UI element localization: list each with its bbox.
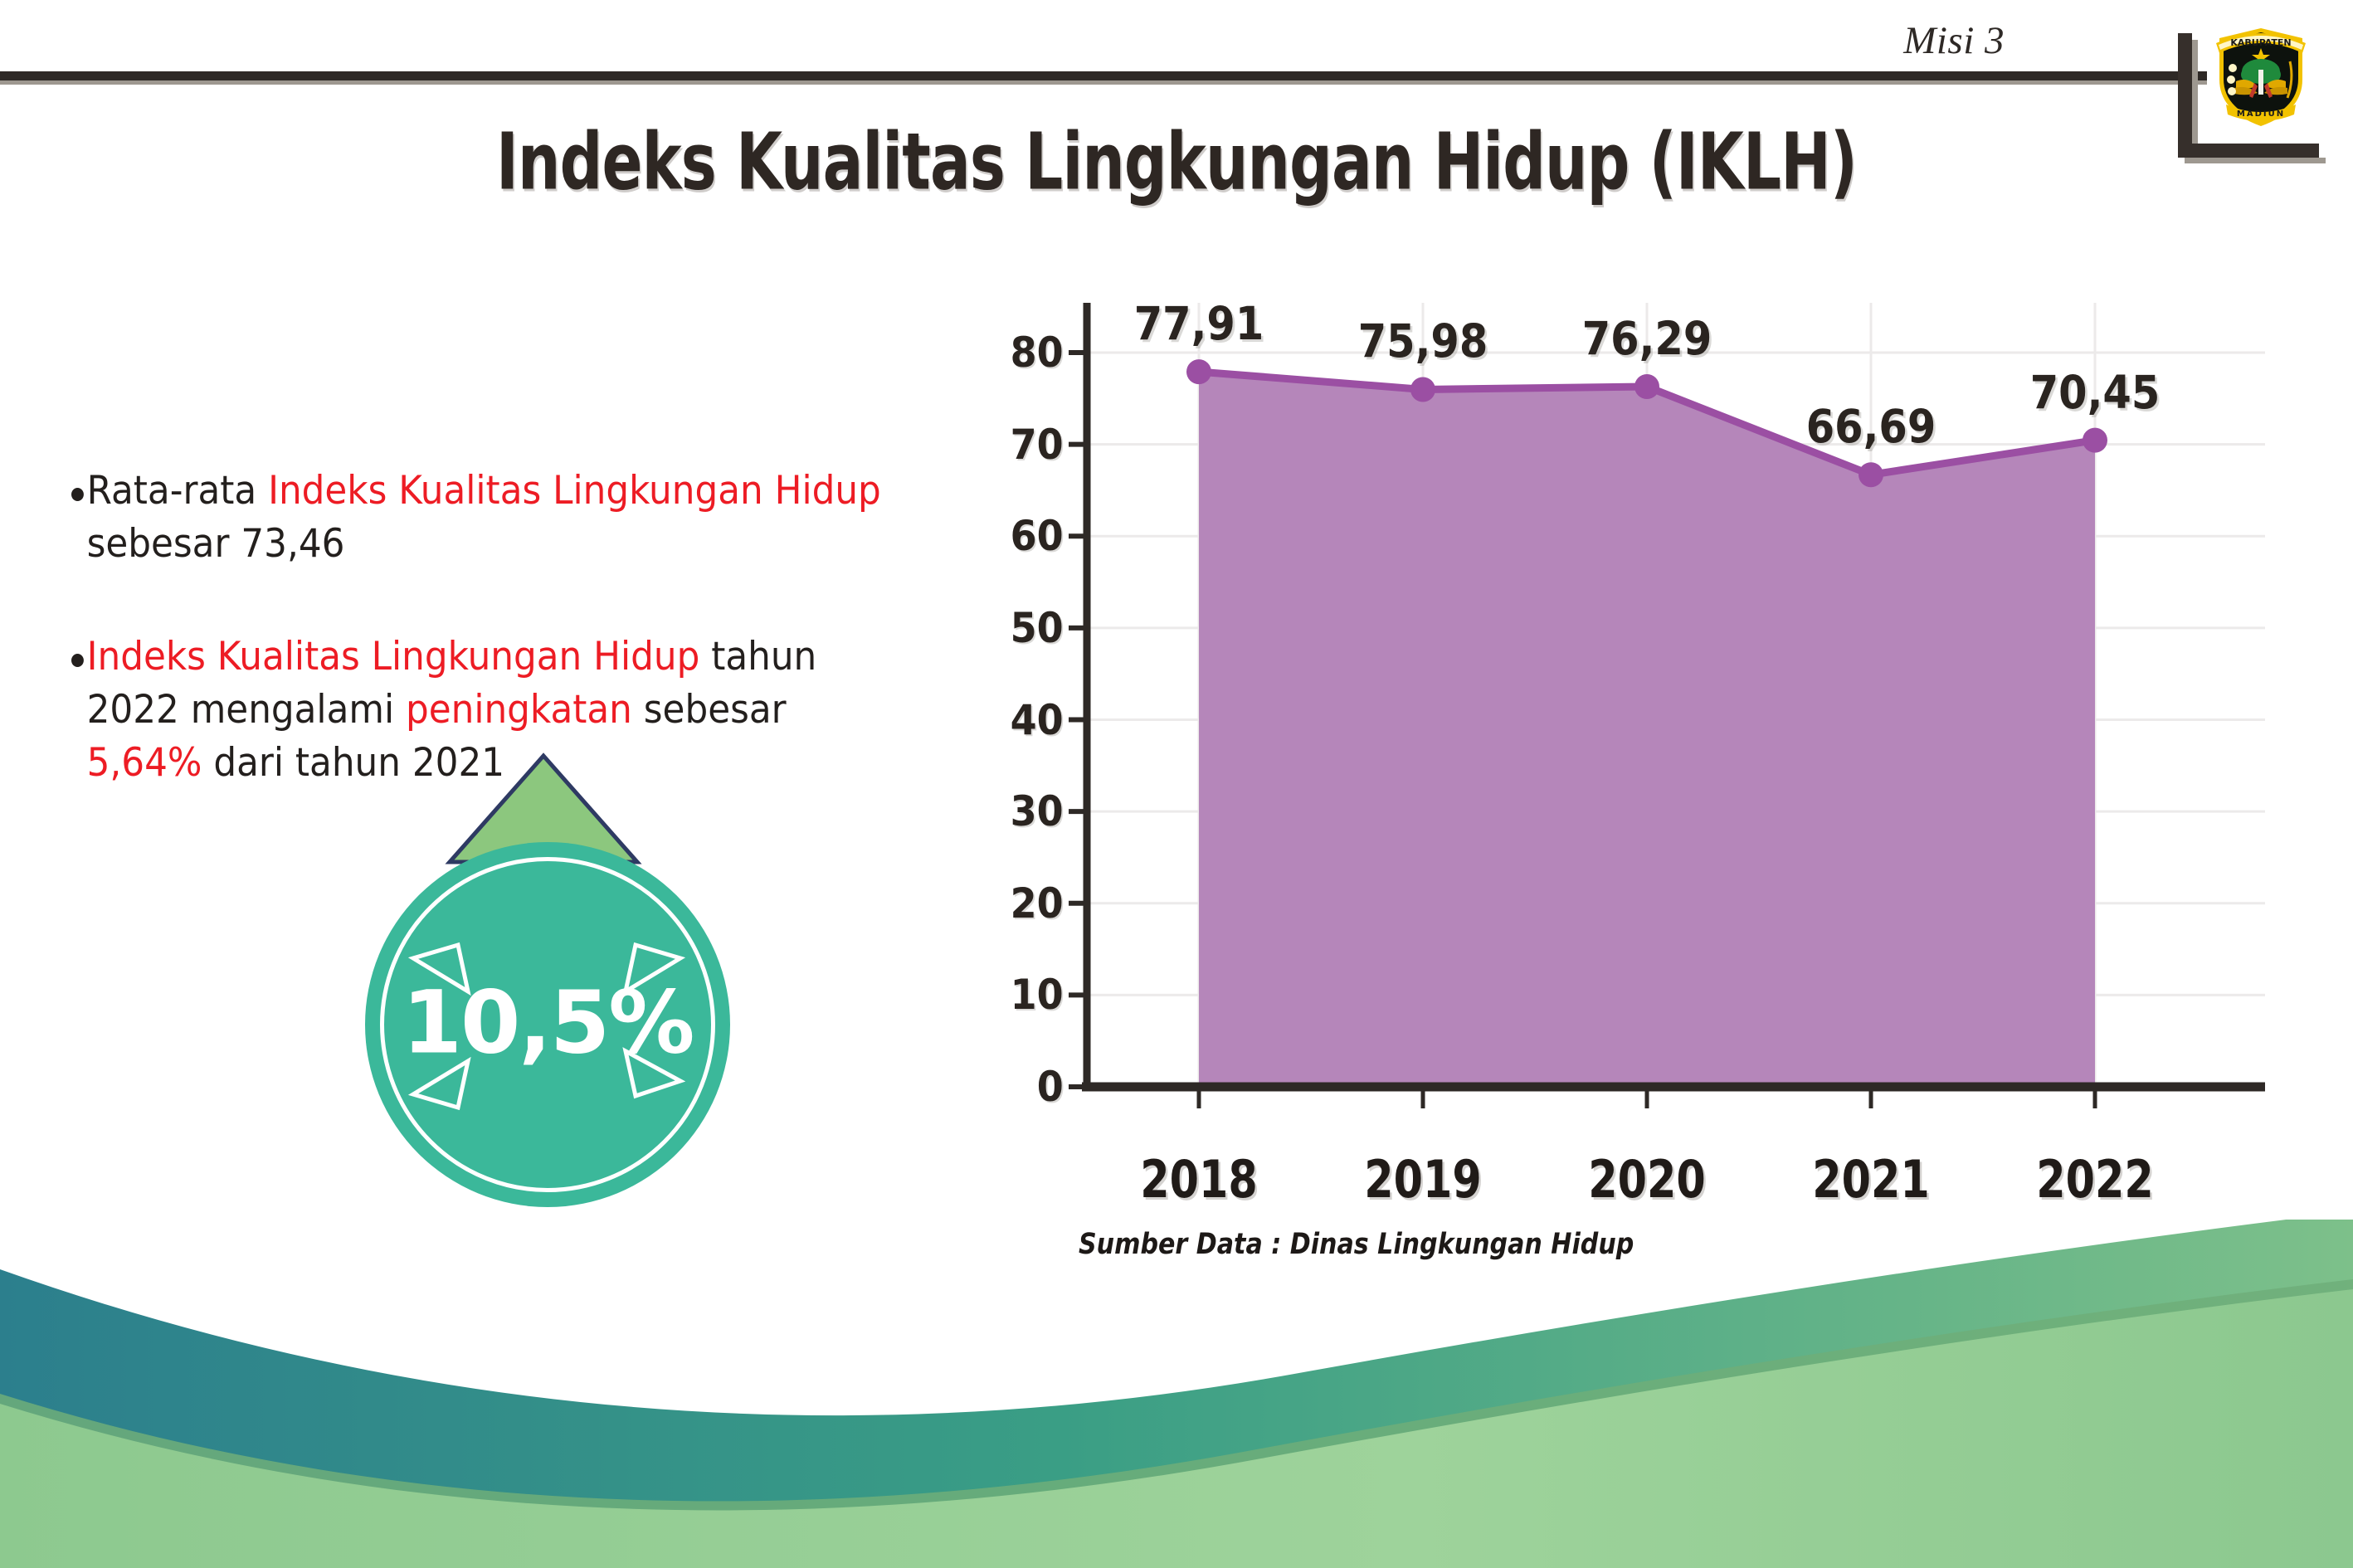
svg-text:MADIUN: MADIUN	[2237, 110, 2285, 119]
plain-phrase: sebesar	[632, 687, 787, 733]
plain-phrase: sebesar 73,46	[87, 521, 345, 567]
chart-canvas	[987, 295, 2282, 1174]
header-divider-line	[0, 71, 2207, 80]
footer-wave-graphic	[0, 1220, 2353, 1568]
chart-x-tick-label: 2022	[2036, 1149, 2154, 1210]
chart-data-label: 70,45	[2030, 366, 2161, 419]
bullet-dot-icon	[71, 654, 84, 667]
bullet-text-0: Rata-rata Indeks Kualitas Lingkungan Hid…	[87, 465, 898, 571]
list-item: Rata-rata Indeks Kualitas Lingkungan Hid…	[71, 465, 897, 571]
chart-marker	[1634, 374, 1659, 399]
key-findings-list: Rata-rata Indeks Kualitas Lingkungan Hid…	[71, 465, 959, 790]
chart-y-tick-label: 40	[1011, 696, 1064, 744]
badge-percent-label: 10,5%	[365, 972, 730, 1074]
chart-y-tick-label: 70	[1011, 421, 1064, 469]
plain-phrase: Rata-rata	[87, 468, 268, 514]
chart-data-label: 75,98	[1358, 314, 1488, 368]
chart-y-tick-label: 80	[1011, 329, 1064, 377]
chart-y-tick-label: 50	[1011, 604, 1064, 652]
svg-text:KABUPATEN: KABUPATEN	[2230, 37, 2291, 48]
chart-area-fill	[1199, 372, 2095, 1087]
chart-data-label: 66,69	[1806, 400, 1936, 453]
increase-badge: 10,5%	[332, 751, 763, 1215]
logo-bracket-vertical-shadow	[2192, 40, 2198, 158]
chart-y-tick-label: 30	[1011, 787, 1064, 835]
chart-data-label: 76,29	[1582, 312, 1712, 365]
page-footer: Media Infografis Data Statistik Sektoral…	[0, 1220, 2353, 1568]
header-divider-shadow	[0, 80, 2207, 85]
chart-x-tick-label: 2018	[1140, 1149, 1258, 1210]
chart-y-tick-label: 10	[1011, 971, 1064, 1019]
chart-y-tick-label: 20	[1011, 879, 1064, 928]
bullet-dot-icon	[71, 488, 84, 501]
badge-circle: 10,5%	[365, 842, 730, 1207]
highlighted-phrase: peningkatan	[406, 687, 632, 733]
chart-marker	[1186, 359, 1211, 384]
highlighted-phrase: Indeks Kualitas Lingkungan Hidup	[87, 634, 700, 679]
page-title: Indeks Kualitas Lingkungan Hidup (IKLH)	[165, 116, 2189, 207]
chart-data-label: 77,91	[1134, 297, 1264, 350]
iklh-area-chart: 01020304050607080 20182019202020212022 7…	[987, 295, 2282, 1174]
chart-x-tick-label: 2019	[1364, 1149, 1482, 1210]
highlighted-phrase: 5,64%	[87, 740, 202, 786]
chart-y-tick-label: 0	[1037, 1063, 1064, 1111]
chart-x-tick-label: 2020	[1588, 1149, 1706, 1210]
chart-y-tick-label: 60	[1011, 512, 1064, 560]
logo-bracket-horizontal	[2178, 144, 2319, 158]
highlighted-phrase: Indeks Kualitas Lingkungan Hidup	[268, 468, 881, 514]
chart-x-tick-label: 2021	[1812, 1149, 1930, 1210]
chart-marker	[1410, 377, 1435, 402]
mission-label: Misi 3	[1903, 18, 2005, 63]
logo-bracket-horizontal-shadow	[2185, 158, 2326, 163]
chart-marker	[1859, 462, 1883, 487]
kabupaten-madiun-logo-icon: KABUPATEN MADIUN	[2211, 18, 2311, 130]
chart-marker	[2083, 428, 2107, 453]
